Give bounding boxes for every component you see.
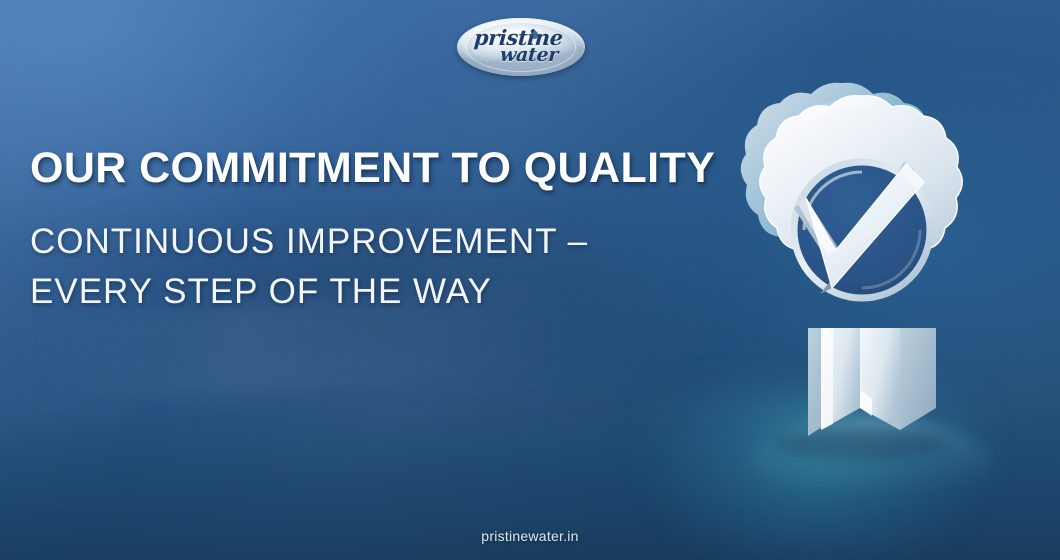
quality-check-rosette-badge-icon [700, 78, 1030, 498]
site-url: pristinewater.in [0, 528, 1060, 544]
subheadline: CONTINUOUS IMPROVEMENT – EVERY STEP OF T… [30, 217, 690, 316]
page-title: OUR COMMITMENT TO QUALITY [30, 146, 690, 191]
logo-oval-plate [457, 18, 585, 76]
badge-drop-shadow [772, 428, 948, 460]
headline-block: OUR COMMITMENT TO QUALITY CONTINUOUS IMP… [30, 146, 690, 317]
quality-badge-illustration [700, 78, 1030, 498]
subheadline-line-2: EVERY STEP OF THE WAY [30, 267, 690, 317]
subheadline-line-1: CONTINUOUS IMPROVEMENT – [30, 217, 690, 267]
brand-logo: pristine water [457, 18, 585, 76]
quality-commitment-banner: pristine water OUR COMMITMENT TO QUALITY… [0, 0, 1060, 560]
